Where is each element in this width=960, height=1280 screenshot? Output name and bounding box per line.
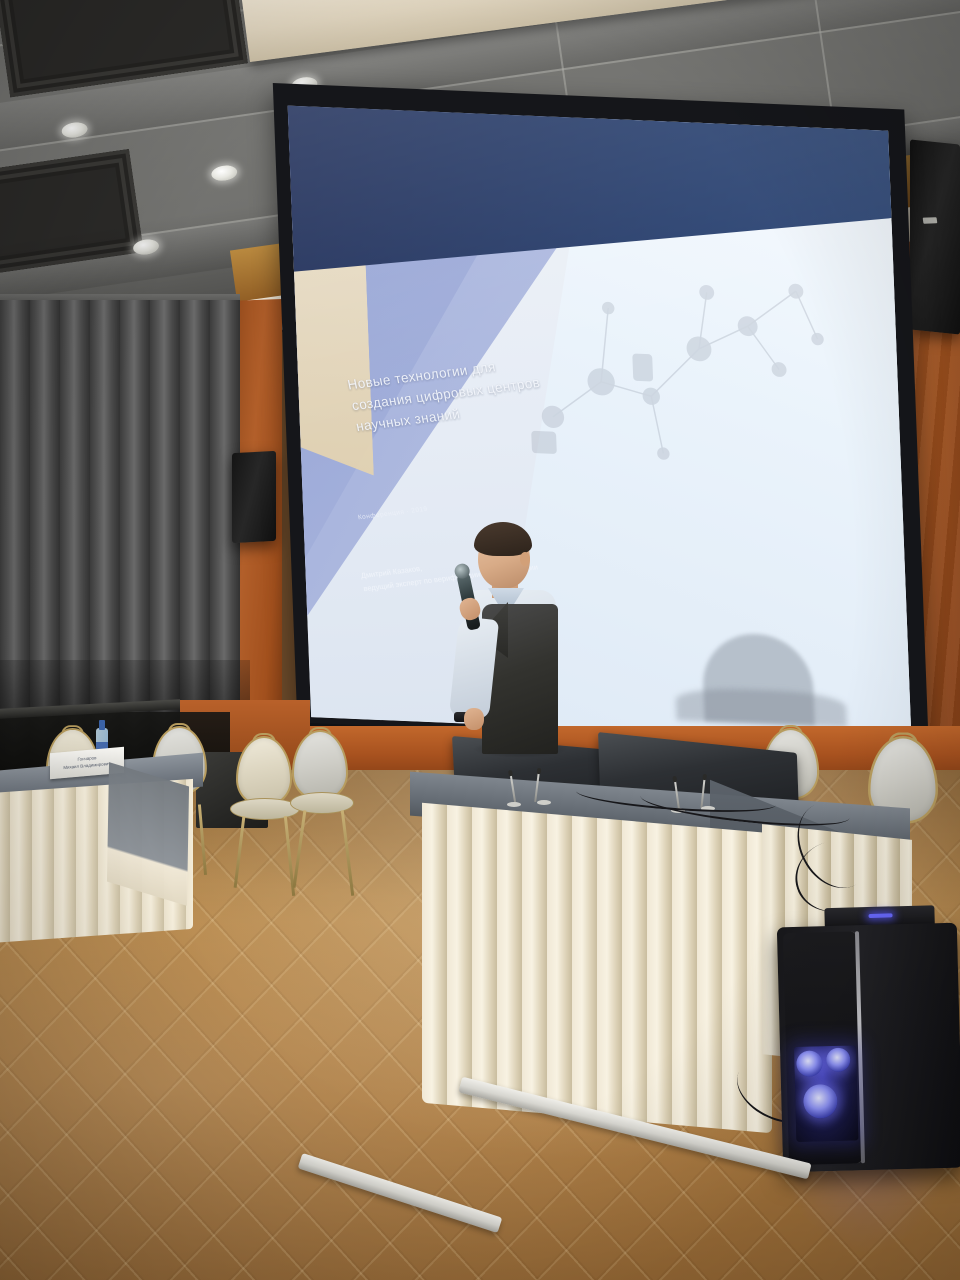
pc-fan-led-icon — [796, 1050, 823, 1077]
pc-fan-led-icon — [803, 1084, 838, 1119]
presenter-hand-holding-clicker — [464, 708, 484, 730]
conference-hall-photo: Новые технологии для создания цифровых ц… — [0, 0, 960, 1280]
projection-screen-surface: Новые технологии для создания цифровых ц… — [288, 106, 912, 743]
pc-fan-led-icon — [826, 1048, 851, 1073]
presidium-table: Гончаров Михаил Владимирович — [0, 762, 203, 932]
downlight-icon — [210, 164, 238, 183]
projection-screen-frame: Новые технологии для создания цифровых ц… — [273, 83, 929, 759]
desk-microphone-base — [537, 800, 551, 805]
loudspeaker-right — [910, 139, 960, 334]
loudspeaker-left — [232, 451, 276, 543]
presenter-ear — [520, 552, 530, 566]
presenter-hair — [474, 522, 532, 556]
av-device-led-icon — [869, 913, 893, 918]
presidium-table-runner — [107, 762, 189, 906]
pc-side-window — [794, 1045, 858, 1142]
speaker-logo-badge — [923, 217, 938, 224]
desk-microphone-base — [507, 802, 521, 807]
desktop-pc-tower[interactable] — [777, 923, 960, 1173]
chair-seat — [290, 792, 354, 814]
presenter — [448, 522, 578, 752]
nameplate-line-2: Михаил Владимирович — [63, 761, 110, 772]
